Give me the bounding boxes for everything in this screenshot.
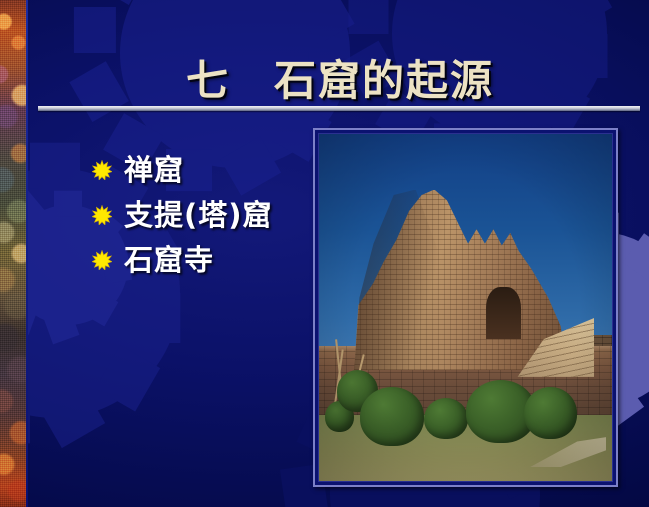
strip-grain-texture xyxy=(0,0,26,507)
list-item-label: 禅窟 xyxy=(124,147,184,189)
star-bullet-icon xyxy=(92,250,112,270)
list-item: 石窟寺 xyxy=(92,236,322,280)
title-divider-rule xyxy=(38,106,640,111)
strip-edge-line xyxy=(26,0,28,507)
photo-frame xyxy=(313,128,618,487)
list-item-label: 支提(塔)窟 xyxy=(124,192,273,234)
list-item: 支提(塔)窟 xyxy=(92,191,322,235)
photo-vignette xyxy=(319,134,612,481)
bullet-list: 禅窟 支提(塔)窟 石窟寺 xyxy=(92,146,322,281)
star-bullet-icon xyxy=(92,160,112,180)
list-item-label: 石窟寺 xyxy=(124,237,214,279)
list-item: 禅窟 xyxy=(92,146,322,190)
presentation-slide: 七 石窟的起源 禅窟 支提(塔)窟 xyxy=(0,0,649,507)
star-bullet-icon xyxy=(92,205,112,225)
left-decor-strip xyxy=(0,0,26,507)
slide-title: 七 石窟的起源 xyxy=(40,47,640,108)
indian-temple-photo xyxy=(318,133,613,482)
